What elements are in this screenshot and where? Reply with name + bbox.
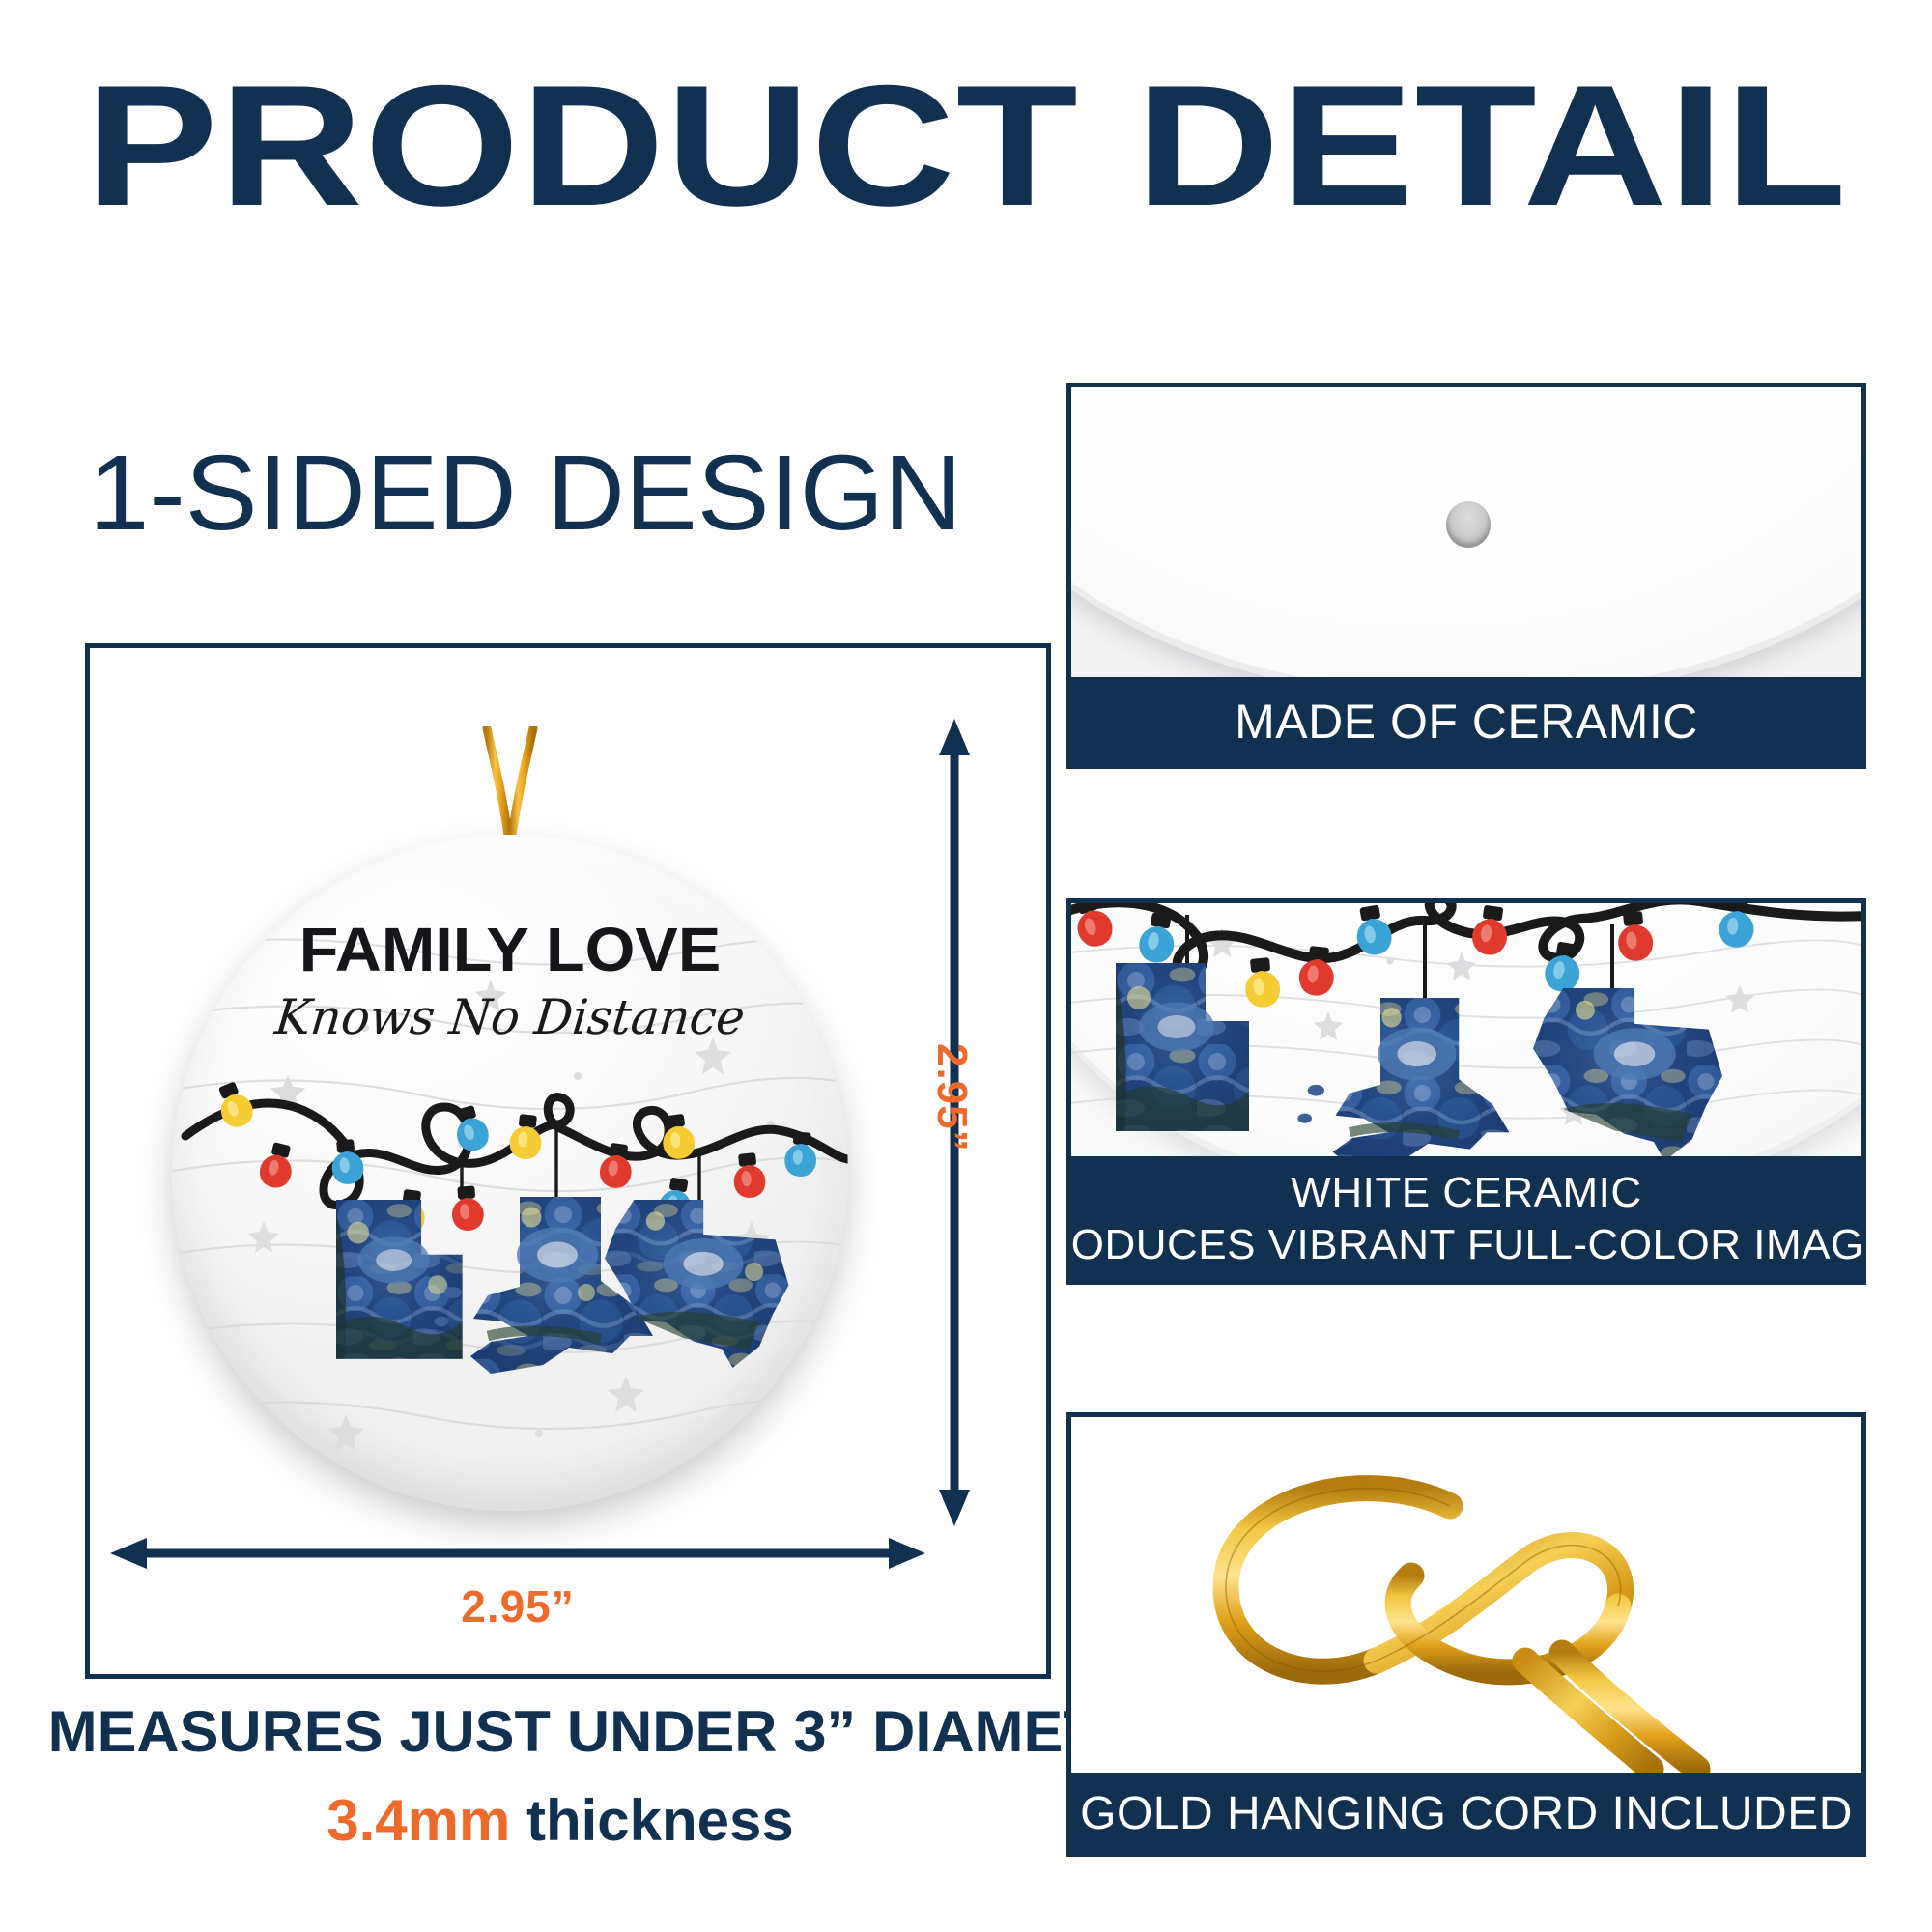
page-title: PRODUCT DETAIL (85, 60, 1932, 232)
caption-line: WHITE CERAMIC (1291, 1167, 1641, 1219)
state-shape-texas (1533, 988, 1722, 1156)
hanging-hole-icon (1446, 501, 1491, 548)
light-bulbs (212, 1079, 818, 1236)
height-dimension-label: 2.95” (927, 1043, 976, 1152)
thickness-word: thickness (510, 1788, 793, 1853)
ornament-preview: FAMILY LOVE Knows No Distance (124, 726, 896, 1538)
state-shape-texas (605, 1200, 788, 1368)
caption-line: MADE OF CERAMIC (1235, 694, 1698, 750)
state-shape-utah (1116, 963, 1249, 1131)
gold-cord-knot-icon (1071, 1417, 1861, 1773)
caption-line: GOLD HANGING CORD INCLUDED (1080, 1787, 1853, 1840)
thickness-value: 3.4mm (327, 1788, 510, 1853)
thickness-caption: 3.4mm thickness (58, 1789, 1063, 1853)
ceramic-hole-photo (1071, 387, 1861, 677)
width-dimension-arrow (108, 1534, 927, 1573)
state-shape-utah (336, 1200, 463, 1359)
panel-white-ceramic: WHITE CERAMIC PRODUCES VIBRANT FULL-COLO… (1066, 898, 1866, 1285)
panel-gold-cord: GOLD HANGING CORD INCLUDED (1066, 1412, 1866, 1857)
measure-caption: MEASURES JUST UNDER 3” DIAMETER (48, 1700, 1073, 1764)
vibrant-artwork (1071, 903, 1861, 1156)
width-dimension-label: 2.95” (108, 1580, 927, 1633)
ornament-script-line: Knows No Distance (176, 989, 844, 1045)
panel-caption: WHITE CERAMIC PRODUCES VIBRANT FULL-COLO… (1071, 1156, 1861, 1282)
product-detail-page: PRODUCT DETAIL 1-SIDED DESIGN (0, 0, 1932, 1932)
vibrant-print-photo (1071, 903, 1861, 1156)
ornament-headline: FAMILY LOVE (172, 918, 848, 981)
ceramic-ornament: FAMILY LOVE Knows No Distance (172, 835, 848, 1511)
gold-cord-photo (1071, 1417, 1861, 1773)
panel-made-of-ceramic: MADE OF CERAMIC (1066, 383, 1866, 769)
panel-caption: MADE OF CERAMIC (1071, 677, 1861, 766)
caption-line: PRODUCES VIBRANT FULL-COLOR IMAGES (1066, 1219, 1866, 1271)
design-subtitle: 1-SIDED DESIGN (89, 440, 962, 548)
panel-caption: GOLD HANGING CORD INCLUDED (1071, 1773, 1861, 1854)
